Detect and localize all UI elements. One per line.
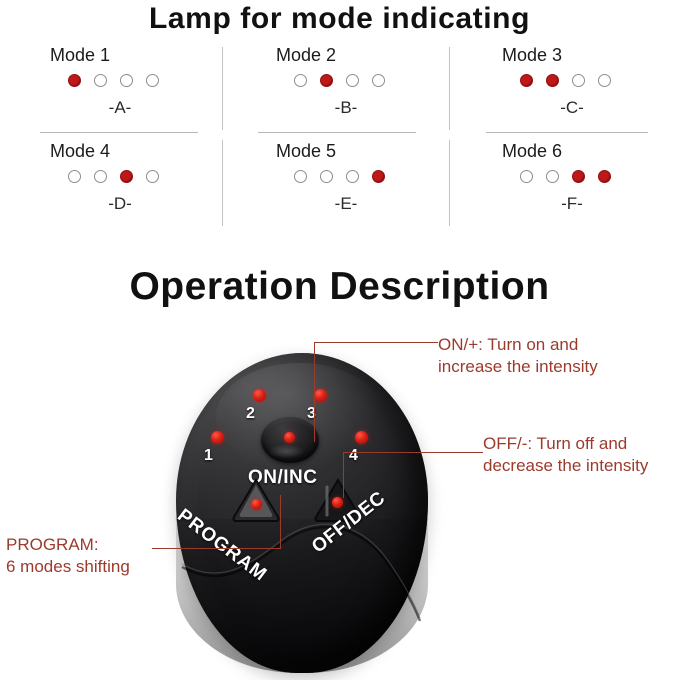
lamp-off-4	[146, 74, 159, 87]
led-indicator-3	[314, 389, 327, 402]
mode-cell-6: Mode 6 -F-	[466, 140, 678, 233]
callout-off-minus: OFF/-: Turn off and decrease the intensi…	[483, 433, 648, 477]
mode-label: Mode 4	[50, 140, 110, 162]
leader-line-on-vertical	[314, 342, 315, 442]
lamp-off-1	[68, 170, 81, 183]
mode-letter: -C-	[466, 98, 678, 118]
mode-label: Mode 2	[276, 44, 336, 66]
mode-label: Mode 1	[50, 44, 110, 66]
mode-indicator-grid: Mode 1 -A- Mode 2 -B- Mode 3 -C- Mode 4 …	[0, 44, 679, 234]
led-number-1: 1	[204, 448, 213, 464]
led-number-4: 4	[349, 448, 358, 464]
mode-letter: -F-	[466, 194, 678, 214]
mode-cell-1: Mode 1 -A-	[14, 44, 226, 137]
lamp-on-3	[120, 170, 133, 183]
on-inc-button-led	[284, 432, 295, 443]
lamp-row	[294, 74, 385, 87]
lamp-off-2	[94, 170, 107, 183]
lamp-off-1	[294, 170, 307, 183]
led-indicator-2	[253, 389, 266, 402]
off-dec-button-led	[332, 497, 343, 508]
lamp-row	[294, 170, 385, 183]
leader-line-off-vertical	[343, 452, 344, 498]
led-indicator-4	[355, 431, 368, 444]
mode-cell-3: Mode 3 -C-	[466, 44, 678, 137]
leader-line-off-horizontal	[343, 452, 483, 453]
lamp-off-1	[294, 74, 307, 87]
device-seam-line	[176, 353, 428, 673]
mode-letter: -B-	[240, 98, 452, 118]
lamp-off-3	[120, 74, 133, 87]
leader-line-on-horizontal	[314, 342, 438, 343]
callout-program: PROGRAM: 6 modes shifting	[6, 534, 130, 578]
lamp-off-3	[346, 170, 359, 183]
mode-letter: -D-	[14, 194, 226, 214]
lamp-row	[68, 74, 159, 87]
mode-cell-2: Mode 2 -B-	[240, 44, 452, 137]
mode-cell-4: Mode 4 -D-	[14, 140, 226, 233]
lamp-row	[520, 74, 611, 87]
lamp-off-3	[572, 74, 585, 87]
lamp-on-4	[598, 170, 611, 183]
mode-label: Mode 3	[502, 44, 562, 66]
lamp-off-1	[520, 170, 533, 183]
lamp-off-4	[598, 74, 611, 87]
mode-label: Mode 6	[502, 140, 562, 162]
mode-label: Mode 5	[276, 140, 336, 162]
lamp-off-2	[546, 170, 559, 183]
lamp-on-2	[320, 74, 333, 87]
lamp-on-1	[68, 74, 81, 87]
lamp-off-2	[320, 170, 333, 183]
lamp-on-1	[520, 74, 533, 87]
lamp-on-2	[546, 74, 559, 87]
led-number-2: 2	[246, 406, 255, 422]
lamp-on-4	[372, 170, 385, 183]
led-indicator-1	[211, 431, 224, 444]
button-gloss	[267, 444, 305, 460]
lamp-off-4	[372, 74, 385, 87]
lamp-on-3	[572, 170, 585, 183]
lamp-off-4	[146, 170, 159, 183]
lamp-off-3	[346, 74, 359, 87]
page-title-lamp: Lamp for mode indicating	[0, 1, 679, 37]
lamp-row	[520, 170, 611, 183]
mode-letter: -E-	[240, 194, 452, 214]
leader-line-program-horizontal	[152, 548, 281, 549]
callout-on-plus: ON/+: Turn on and increase the intensity	[438, 334, 598, 378]
page-title-operation: Operation Description	[0, 263, 679, 311]
lamp-off-2	[94, 74, 107, 87]
device-body: 1 2 3 4 ON/INC PROGRAM OFF/DEC	[176, 353, 428, 673]
mode-cell-5: Mode 5 -E-	[240, 140, 452, 233]
mode-letter: -A-	[14, 98, 226, 118]
leader-line-program-vertical	[280, 495, 281, 548]
lamp-row	[68, 170, 159, 183]
program-button-led	[251, 499, 262, 510]
